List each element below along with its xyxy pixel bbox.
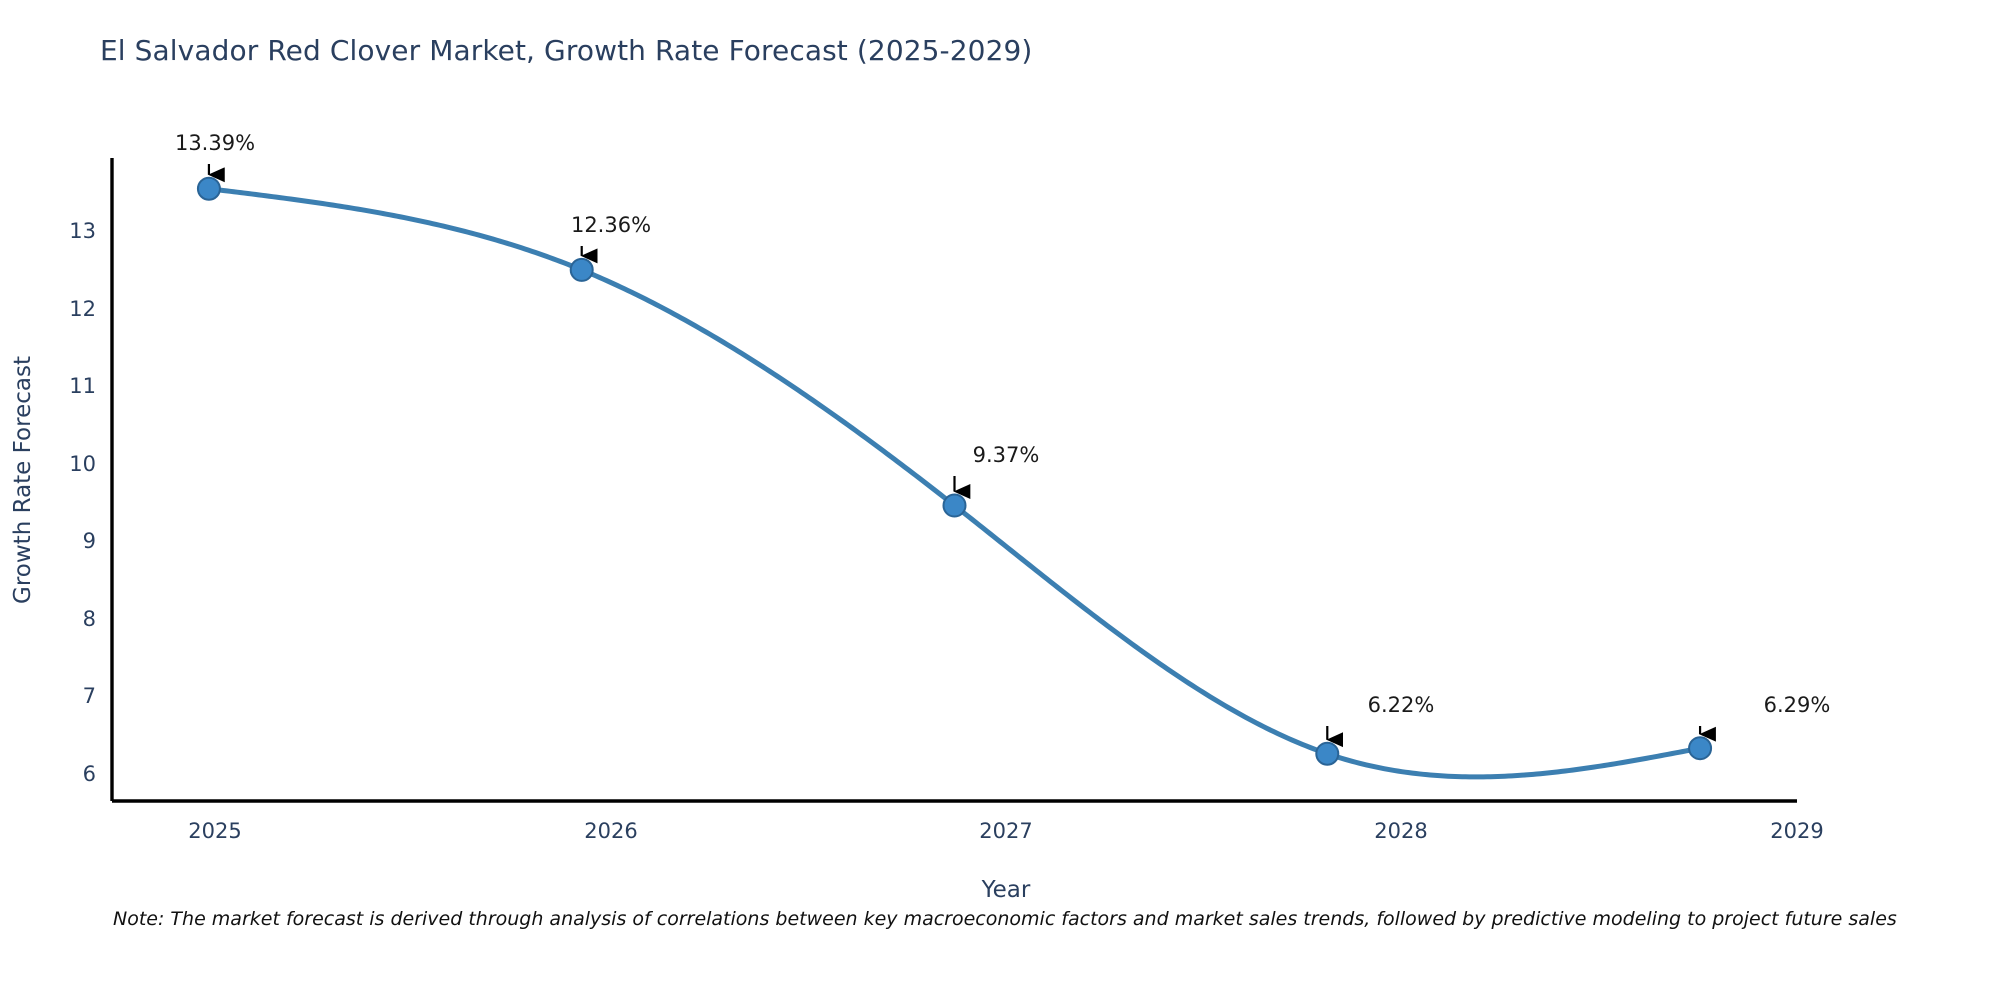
data-point-marker[interactable] xyxy=(571,259,593,281)
x-tick-label: 2028 xyxy=(1374,819,1427,843)
y-tick-label: 7 xyxy=(83,684,96,708)
chart-footnote: Note: The market forecast is derived thr… xyxy=(113,908,1897,930)
data-point-marker[interactable] xyxy=(1689,737,1711,759)
x-axis-title: Year xyxy=(981,877,1031,903)
y-tick-label: 13 xyxy=(69,219,96,243)
x-tick-label: 2029 xyxy=(1770,819,1823,843)
data-point-labels: 13.39% 12.36% 9.37% 6.22% 6.29% xyxy=(175,131,1830,717)
data-point-label: 9.37% xyxy=(973,443,1040,467)
y-tick-label: 12 xyxy=(69,297,96,321)
data-point-markers xyxy=(198,178,1711,765)
x-tick-label: 2025 xyxy=(188,819,241,843)
y-tick-label: 8 xyxy=(83,607,96,631)
y-tick-label: 11 xyxy=(69,374,96,398)
x-tick-label: 2027 xyxy=(979,819,1032,843)
chart-figure: El Salvador Red Clover Market, Growth Ra… xyxy=(0,0,2000,1000)
data-point-label: 6.22% xyxy=(1368,693,1435,717)
y-tick-label: 9 xyxy=(83,529,96,553)
data-point-marker[interactable] xyxy=(1316,743,1338,765)
data-point-label: 12.36% xyxy=(571,213,651,237)
line-chart-plot: 6 7 8 9 10 11 12 13 2025 2026 2027 2028 … xyxy=(0,0,2000,1000)
y-axis-title: Growth Rate Forecast xyxy=(10,356,36,604)
x-tick-label: 2026 xyxy=(584,819,637,843)
annotation-arrows xyxy=(209,164,1700,740)
data-point-marker[interactable] xyxy=(944,495,966,517)
y-tick-labels: 6 7 8 9 10 11 12 13 xyxy=(69,219,96,786)
data-point-label: 6.29% xyxy=(1764,693,1831,717)
y-tick-label: 6 xyxy=(83,762,96,786)
data-point-label: 13.39% xyxy=(175,131,255,155)
x-tick-labels: 2025 2026 2027 2028 2029 xyxy=(188,819,1823,843)
data-point-marker[interactable] xyxy=(198,178,220,200)
y-tick-label: 10 xyxy=(69,452,96,476)
